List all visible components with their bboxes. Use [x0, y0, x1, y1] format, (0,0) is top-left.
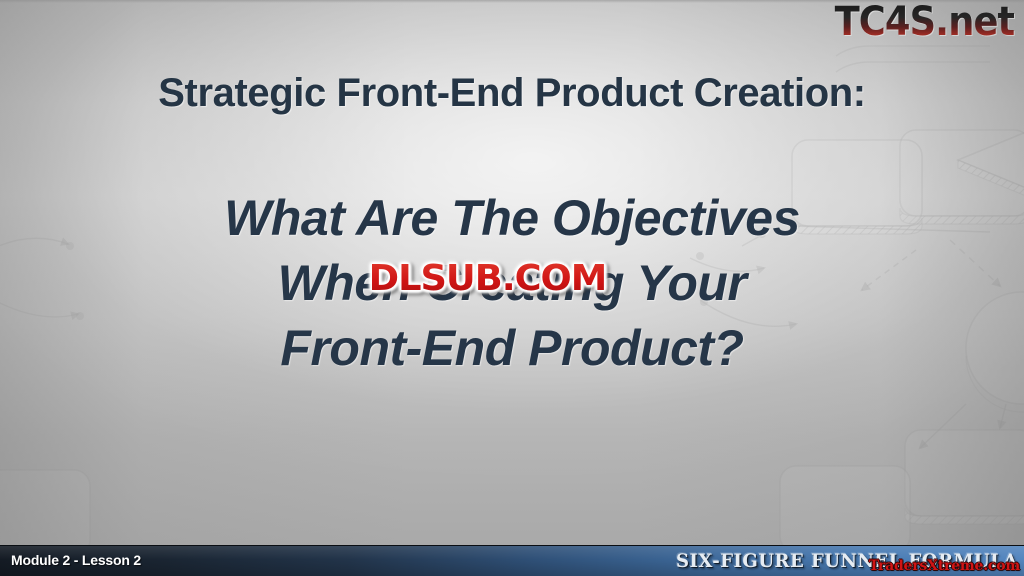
page-title: Strategic Front-End Product Creation:	[0, 72, 1024, 114]
footer-watermark: TradersXtreme.com	[869, 558, 1020, 574]
footer-bar: Module 2 - Lesson 2 SIX-FIGURE FUNNEL FO…	[0, 545, 1024, 576]
lesson-label: Module 2 - Lesson 2	[11, 552, 141, 568]
center-watermark: DLSUB.COM	[364, 258, 612, 302]
slide-canvas: TC4S.net Strategic Front-End Product Cre…	[0, 0, 1024, 576]
subtitle-line-3: Front-End Product?	[0, 316, 1024, 381]
subtitle-line-1: What Are The Objectives	[0, 186, 1024, 251]
site-logo[interactable]: TC4S.net	[834, 2, 1014, 42]
